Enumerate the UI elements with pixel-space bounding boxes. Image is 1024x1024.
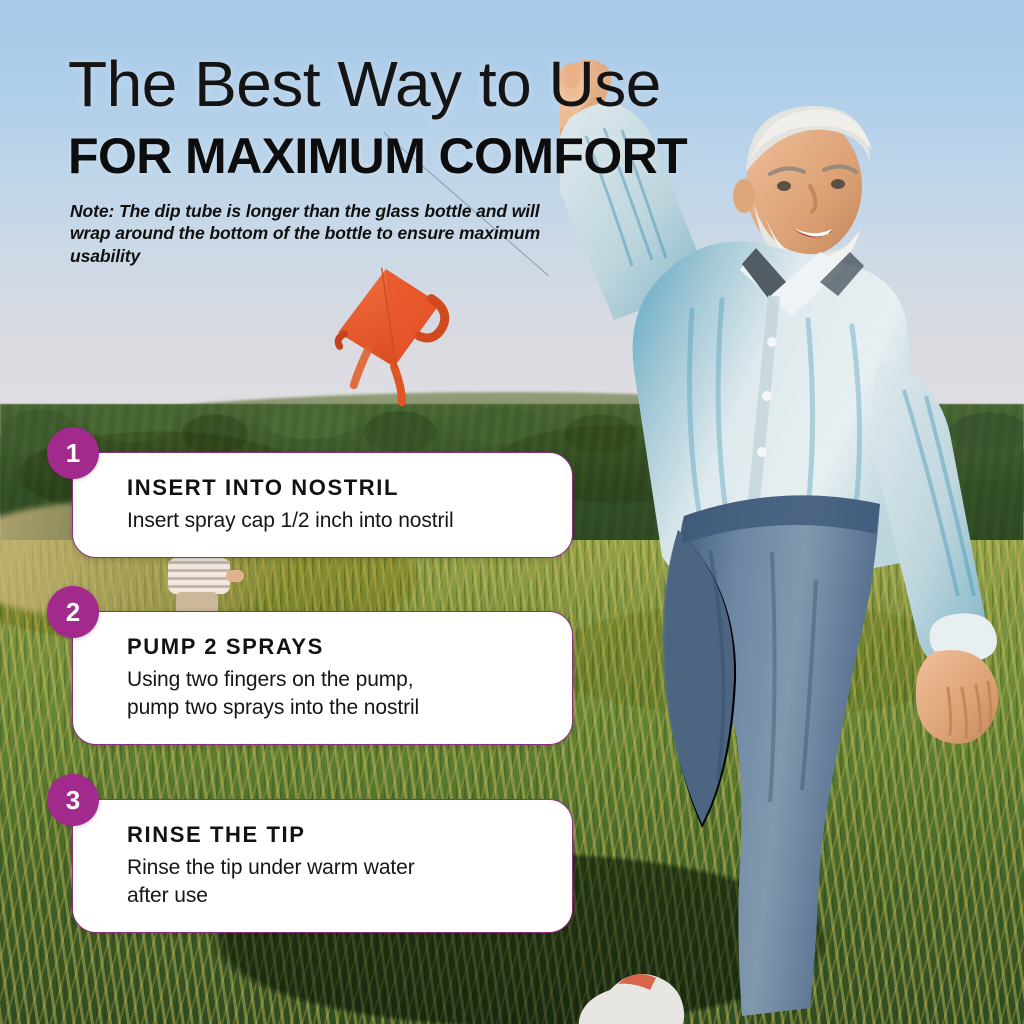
step-body-1: Insert spray cap 1/2 inch into nostril (127, 507, 544, 535)
step-body-2: Using two fingers on the pump, pump two … (127, 666, 544, 722)
step-body-3: Rinse the tip under warm water after use (127, 854, 544, 910)
step-card-2[interactable]: 2 PUMP 2 SPRAYS Using two fingers on the… (72, 611, 573, 745)
step-card-3[interactable]: 3 RINSE THE TIP Rinse the tip under warm… (72, 799, 573, 933)
step-card-1[interactable]: 1 INSERT INTO NOSTRIL Insert spray cap 1… (72, 452, 573, 558)
step-badge-2: 2 (47, 586, 99, 638)
step-badge-1: 1 (47, 427, 99, 479)
infographic-canvas: The Best Way to Use FOR MAXIMUM COMFORT … (0, 0, 1024, 1024)
step-title-1: INSERT INTO NOSTRIL (127, 475, 544, 501)
step-content-2: PUMP 2 SPRAYS Using two fingers on the p… (73, 612, 572, 744)
step-content-3: RINSE THE TIP Rinse the tip under warm w… (73, 800, 572, 932)
step-title-2: PUMP 2 SPRAYS (127, 634, 544, 660)
step-badge-3: 3 (47, 774, 99, 826)
step-content-1: INSERT INTO NOSTRIL Insert spray cap 1/2… (73, 453, 572, 557)
steps-list: 1 INSERT INTO NOSTRIL Insert spray cap 1… (0, 0, 1024, 1024)
step-title-3: RINSE THE TIP (127, 822, 544, 848)
